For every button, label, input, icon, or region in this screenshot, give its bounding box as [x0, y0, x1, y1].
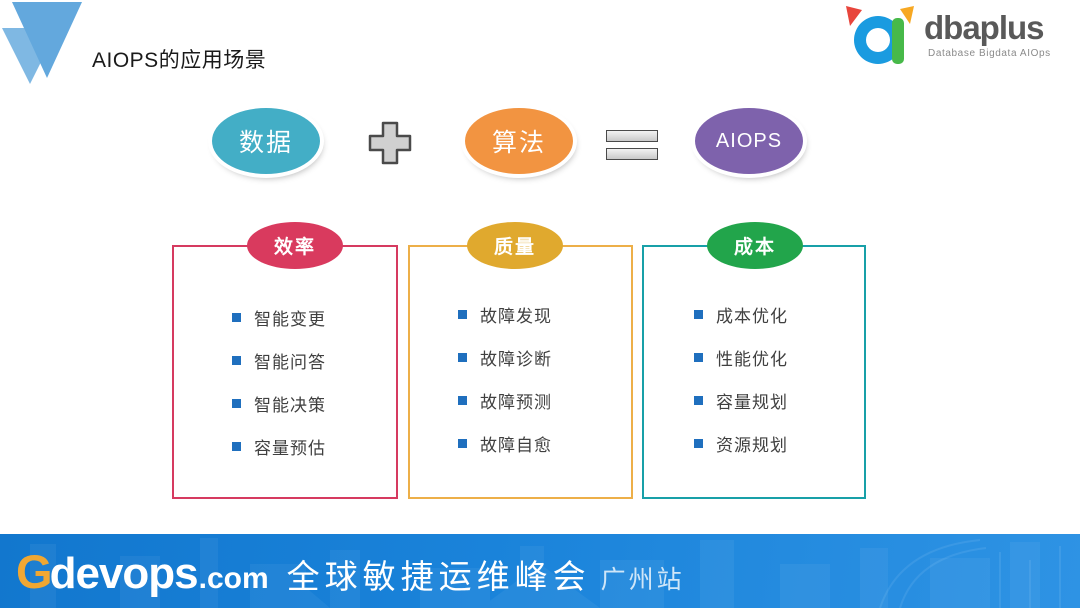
- panel-efficiency-badge: 效率: [247, 222, 343, 269]
- bullet-square-icon: [458, 353, 467, 362]
- list-item: 故障自愈: [458, 422, 552, 465]
- list-item: 智能问答: [232, 339, 326, 382]
- bullet-square-icon: [694, 310, 703, 319]
- list-item: 智能变更: [232, 296, 326, 339]
- bullet-square-icon: [232, 399, 241, 408]
- list-item-label: 成本优化: [716, 302, 788, 327]
- list-item: 故障预测: [458, 379, 552, 422]
- equals-bar-top: [606, 130, 658, 142]
- list-item-label: 故障诊断: [480, 345, 552, 370]
- panel-efficiency-list: 智能变更 智能问答 智能决策 容量预估: [232, 296, 326, 468]
- slide-canvas: AIOPS的应用场景 dbaplus Database Bigdata AIOp…: [0, 0, 1080, 608]
- footer-event-city: 广州站: [601, 568, 685, 593]
- list-item: 容量规划: [694, 379, 788, 422]
- data-ellipse: 数据: [212, 108, 320, 174]
- bullet-square-icon: [694, 439, 703, 448]
- dbaplus-circle-a-icon: [840, 4, 920, 70]
- list-item-label: 故障预测: [480, 388, 552, 413]
- panel-cost-badge: 成本: [707, 222, 803, 269]
- list-item: 智能决策: [232, 382, 326, 425]
- page-title: AIOPS的应用场景: [92, 44, 266, 74]
- panel-quality-badge: 质量: [467, 222, 563, 269]
- panel-quality-list: 故障发现 故障诊断 故障预测 故障自愈: [458, 293, 552, 465]
- algorithm-ellipse: 算法: [465, 108, 573, 174]
- list-item-label: 容量预估: [254, 434, 326, 459]
- dbaplus-wordmark: dbaplus: [924, 11, 1044, 44]
- footer-brand-initial: G: [16, 548, 53, 595]
- equals-icon: [606, 130, 658, 162]
- footer-banner: G devops .com 全球敏捷运维峰会 广州站: [0, 534, 1080, 608]
- list-item: 性能优化: [694, 336, 788, 379]
- dbaplus-tagline: Database Bigdata AIOps: [928, 48, 1051, 59]
- list-item: 资源规划: [694, 422, 788, 465]
- footer-brand-tld: .com: [199, 564, 269, 594]
- panel-cost-list: 成本优化 性能优化 容量规划 资源规划: [694, 293, 788, 465]
- list-item-label: 故障自愈: [480, 431, 552, 456]
- bullet-square-icon: [232, 356, 241, 365]
- bullet-square-icon: [232, 442, 241, 451]
- bullet-square-icon: [694, 353, 703, 362]
- footer-event-name: 全球敏捷运维峰会: [287, 560, 591, 593]
- aiops-ellipse: AIOPS: [695, 108, 803, 174]
- footer-brand: G devops .com 全球敏捷运维峰会 广州站: [16, 548, 685, 596]
- list-item: 故障诊断: [458, 336, 552, 379]
- list-item-label: 智能变更: [254, 305, 326, 330]
- bullet-square-icon: [458, 310, 467, 319]
- bullet-square-icon: [232, 313, 241, 322]
- list-item-label: 资源规划: [716, 431, 788, 456]
- list-item-label: 性能优化: [716, 345, 788, 370]
- list-item-label: 智能决策: [254, 391, 326, 416]
- plus-icon: [367, 120, 413, 166]
- list-item-label: 故障发现: [480, 302, 552, 327]
- equals-bar-bottom: [606, 148, 658, 160]
- list-item: 容量预估: [232, 425, 326, 468]
- blue-double-triangle-logo-icon: [0, 0, 92, 84]
- bullet-square-icon: [458, 396, 467, 405]
- list-item-label: 智能问答: [254, 348, 326, 373]
- bullet-square-icon: [694, 396, 703, 405]
- bullet-square-icon: [458, 439, 467, 448]
- list-item: 故障发现: [458, 293, 552, 336]
- footer-brand-name: devops: [50, 552, 198, 596]
- list-item: 成本优化: [694, 293, 788, 336]
- dbaplus-logo: dbaplus Database Bigdata AIOps: [840, 4, 1066, 72]
- list-item-label: 容量规划: [716, 388, 788, 413]
